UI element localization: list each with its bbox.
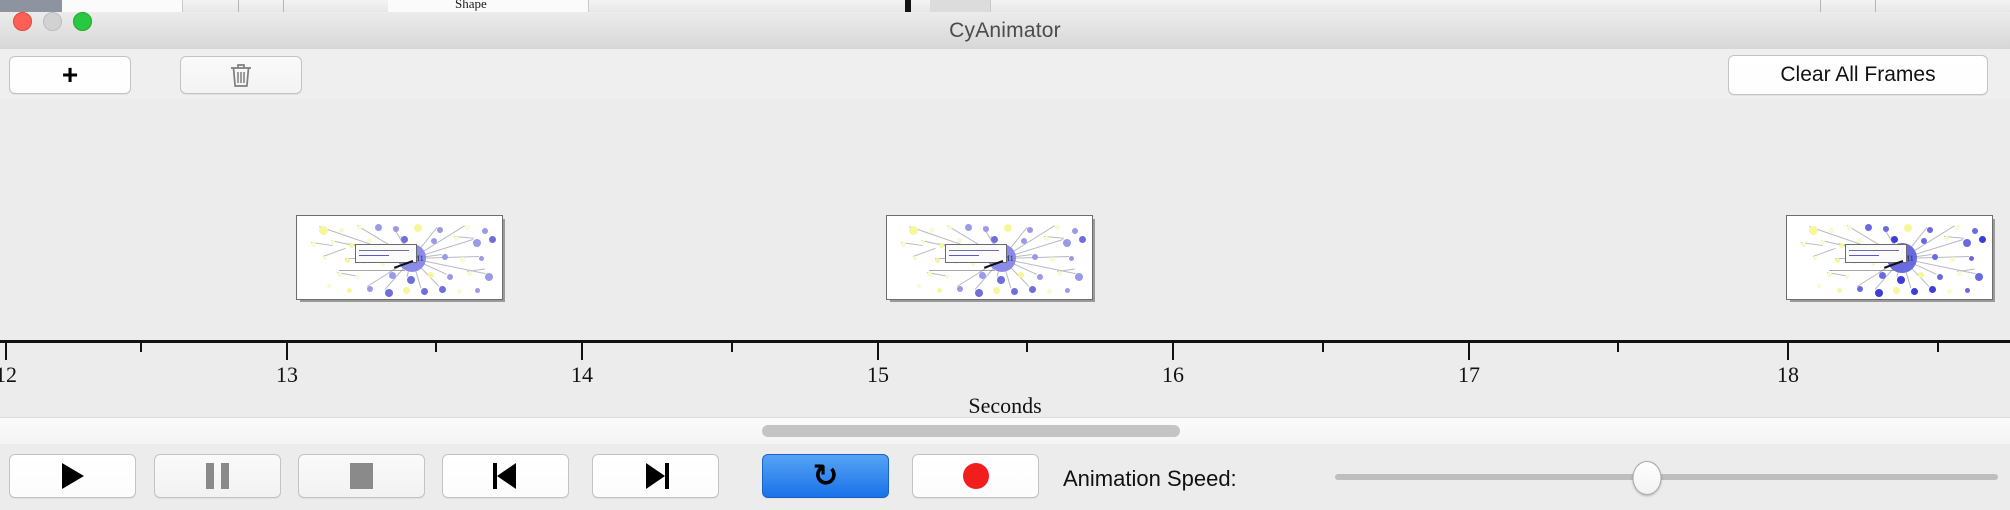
network-node — [1021, 238, 1027, 244]
axis-tick — [1787, 343, 1789, 360]
network-node — [1075, 273, 1083, 281]
network-node — [1857, 238, 1862, 243]
network-node — [473, 239, 481, 247]
network-node — [1918, 272, 1924, 278]
network-node — [1011, 288, 1018, 295]
network-node — [1857, 286, 1863, 292]
background-window-strip: Shape — [0, 0, 2010, 12]
network-node — [1875, 289, 1883, 297]
network-node — [1969, 256, 1974, 261]
network-node — [1929, 286, 1936, 293]
network-node — [439, 286, 446, 293]
window-title: CyAnimator — [0, 12, 2010, 49]
axis-tick-label: 14 — [571, 362, 593, 388]
network-node — [389, 272, 396, 279]
network-node — [428, 272, 434, 278]
axis-tick — [140, 343, 142, 352]
axis-tick-label: 17 — [1458, 362, 1480, 388]
network-node — [929, 228, 934, 233]
network-node — [437, 227, 443, 233]
network-node — [457, 289, 462, 294]
network-node — [442, 254, 448, 260]
network-node — [1063, 239, 1071, 247]
background-tab — [62, 0, 183, 12]
network-node — [939, 243, 944, 248]
network-node — [345, 258, 350, 263]
callout-text-line — [1849, 250, 1899, 251]
network-node — [403, 287, 410, 294]
network-node — [447, 274, 453, 280]
axis-tick-label: 12 — [0, 362, 17, 388]
previous-frame-button[interactable] — [442, 454, 569, 498]
network-node — [947, 225, 952, 230]
callout-text-line — [1849, 255, 1879, 256]
network-node — [1809, 226, 1818, 235]
axis-tick — [581, 343, 583, 360]
network-node — [339, 228, 344, 233]
network-node — [1963, 239, 1971, 247]
axis-tick-label: 16 — [1162, 362, 1184, 388]
network-node — [1944, 236, 1949, 241]
network-node — [1947, 289, 1952, 294]
network-node — [1817, 284, 1821, 288]
network-node — [1065, 288, 1070, 293]
scrollbar-thumb[interactable] — [762, 425, 1180, 437]
network-node — [431, 238, 437, 244]
network-node — [1821, 240, 1825, 244]
trash-icon — [228, 61, 254, 89]
network-node — [997, 276, 1005, 284]
network-node — [485, 273, 493, 281]
skip-to-start-icon — [493, 463, 519, 489]
network-node — [1883, 226, 1889, 232]
delete-frame-button[interactable] — [180, 56, 302, 94]
network-node — [901, 242, 906, 247]
network-node — [975, 289, 983, 297]
plus-icon: + — [62, 61, 78, 89]
network-node — [1829, 228, 1834, 233]
network-node — [385, 289, 393, 297]
network-node — [467, 271, 472, 276]
network-node — [1069, 256, 1074, 261]
network-node — [1972, 228, 1978, 234]
network-thumbnail[interactable]: MCM1 — [1786, 215, 1993, 300]
network-node — [489, 236, 496, 243]
network-node — [1057, 271, 1062, 276]
toolbar: + Clear All Frames — [0, 49, 2010, 100]
add-frame-button[interactable]: + — [9, 56, 131, 94]
network-node — [475, 288, 480, 293]
callout-text-line — [949, 255, 979, 256]
network-node — [1018, 272, 1024, 278]
axis-tick — [1468, 343, 1470, 360]
network-node — [1813, 256, 1817, 260]
network-node — [1827, 272, 1832, 277]
network-node — [1965, 288, 1970, 293]
network-node — [327, 284, 331, 288]
network-node — [337, 272, 342, 277]
timeline-panel[interactable]: MCM1MCM1MCM1 12131415161718 Seconds — [0, 99, 2010, 417]
network-node — [355, 275, 359, 279]
background-divider — [1875, 0, 1876, 12]
background-tab — [930, 0, 991, 12]
network-node — [349, 243, 354, 248]
callout-text-line — [949, 250, 999, 251]
caption-text-line — [1829, 270, 1895, 271]
loop-button[interactable]: ↻ — [762, 454, 889, 498]
network-node — [957, 238, 962, 243]
callout-text-line — [359, 255, 389, 256]
axis-tick — [1937, 343, 1939, 352]
network-node — [909, 226, 918, 235]
pause-icon — [206, 463, 229, 489]
network-node — [1072, 228, 1078, 234]
network-node — [1027, 227, 1033, 233]
animation-speed-label: Animation Speed: — [1063, 466, 1237, 492]
network-node — [421, 288, 428, 295]
background-divider — [1820, 0, 1821, 12]
network-node — [1801, 242, 1806, 247]
network-node — [1865, 224, 1872, 231]
axis-tick — [1026, 343, 1028, 352]
network-node — [1904, 224, 1912, 232]
network-node — [913, 256, 917, 260]
network-node — [311, 242, 316, 247]
axis-tick-label: 18 — [1777, 362, 1799, 388]
animation-speed-slider-thumb[interactable] — [1632, 461, 1661, 495]
network-node — [1050, 257, 1055, 262]
network-node — [1957, 271, 1962, 276]
network-node — [401, 236, 408, 243]
network-node — [1847, 225, 1852, 230]
annotation-callout — [1845, 244, 1907, 263]
pause-button[interactable] — [154, 454, 281, 498]
network-node — [357, 225, 362, 230]
caption-text-line — [339, 270, 405, 271]
network-node — [993, 287, 1000, 294]
network-node — [1927, 227, 1933, 233]
background-divider — [283, 0, 284, 12]
network-node — [393, 226, 399, 232]
network-node — [1032, 254, 1038, 260]
network-node — [1955, 225, 1960, 230]
next-frame-button[interactable] — [592, 454, 719, 498]
axis-tick — [731, 343, 733, 352]
network-node — [1897, 276, 1905, 284]
background-tab — [388, 0, 589, 12]
record-icon — [963, 463, 989, 489]
network-thumbnail[interactable]: MCM1 — [296, 215, 503, 300]
network-node — [1835, 258, 1840, 263]
network-node — [465, 225, 470, 230]
background-marker — [905, 0, 911, 12]
annotation-callout — [355, 244, 417, 263]
network-node — [1879, 272, 1886, 279]
caption-text-line — [929, 270, 995, 271]
network-node — [1921, 238, 1927, 244]
network-node — [1839, 243, 1844, 248]
network-node — [414, 224, 422, 232]
callout-text-line — [359, 250, 409, 251]
skip-to-end-icon — [643, 463, 669, 489]
play-icon — [62, 463, 84, 489]
network-node — [454, 236, 459, 241]
axis-tick-label: 15 — [867, 362, 889, 388]
network-node — [367, 238, 372, 243]
network-node — [935, 258, 940, 263]
network-node — [1979, 236, 1986, 243]
annotation-callout — [945, 244, 1007, 263]
network-node — [1932, 254, 1938, 260]
network-node — [1837, 288, 1842, 293]
network-node — [983, 226, 989, 232]
network-node — [407, 276, 415, 284]
axis-tick — [435, 343, 437, 352]
network-node — [460, 257, 465, 262]
network-node — [323, 256, 327, 260]
network-node — [965, 224, 972, 231]
axis-title: Seconds — [0, 393, 2010, 417]
stop-button[interactable] — [298, 454, 425, 498]
background-window-dark-panel — [0, 0, 62, 12]
axis-tick — [1172, 343, 1174, 360]
stop-icon — [350, 463, 373, 489]
network-node — [927, 272, 932, 277]
network-node — [347, 288, 352, 293]
network-node — [367, 286, 373, 292]
axis-tick-label: 13 — [276, 362, 298, 388]
network-node — [1029, 286, 1036, 293]
network-node — [1911, 288, 1918, 295]
network-node — [479, 256, 484, 261]
background-window-label: Shape — [455, 0, 487, 12]
clear-all-frames-button[interactable]: Clear All Frames — [1728, 55, 1988, 95]
network-node — [482, 228, 488, 234]
background-divider — [238, 0, 239, 12]
network-node — [921, 240, 925, 244]
axis-tick — [1617, 343, 1619, 352]
axis-tick — [5, 343, 7, 360]
cyanimator-window: Shape CyAnimator + Clear All Frames MCM1… — [0, 0, 2010, 510]
play-button[interactable] — [9, 454, 136, 498]
network-node — [1037, 274, 1043, 280]
network-node — [1079, 236, 1086, 243]
record-button[interactable] — [912, 454, 1039, 498]
network-node — [991, 236, 998, 243]
network-node — [1937, 274, 1943, 280]
network-node — [1004, 224, 1012, 232]
network-node — [1975, 273, 1983, 281]
loop-icon: ↻ — [813, 461, 839, 492]
network-node — [957, 286, 963, 292]
timeline-scrollbar[interactable] — [0, 417, 2010, 445]
animation-speed-slider[interactable] — [1335, 474, 1998, 480]
network-node — [1055, 225, 1060, 230]
network-node — [1047, 289, 1052, 294]
network-node — [1950, 257, 1955, 262]
timeline-axis — [0, 340, 2010, 343]
network-node — [917, 284, 921, 288]
transport-bar: ↻ Animation Speed: — [0, 444, 2010, 510]
axis-tick — [286, 343, 288, 360]
network-node — [979, 272, 986, 279]
network-node — [331, 240, 335, 244]
network-node — [1044, 236, 1049, 241]
axis-tick — [1322, 343, 1324, 352]
network-node — [1893, 287, 1900, 294]
network-node — [1845, 275, 1849, 279]
network-node — [319, 226, 328, 235]
network-node — [945, 275, 949, 279]
axis-tick — [877, 343, 879, 360]
network-node — [937, 288, 942, 293]
network-thumbnail[interactable]: MCM1 — [886, 215, 1093, 300]
network-node — [1891, 236, 1898, 243]
network-node — [375, 224, 382, 231]
